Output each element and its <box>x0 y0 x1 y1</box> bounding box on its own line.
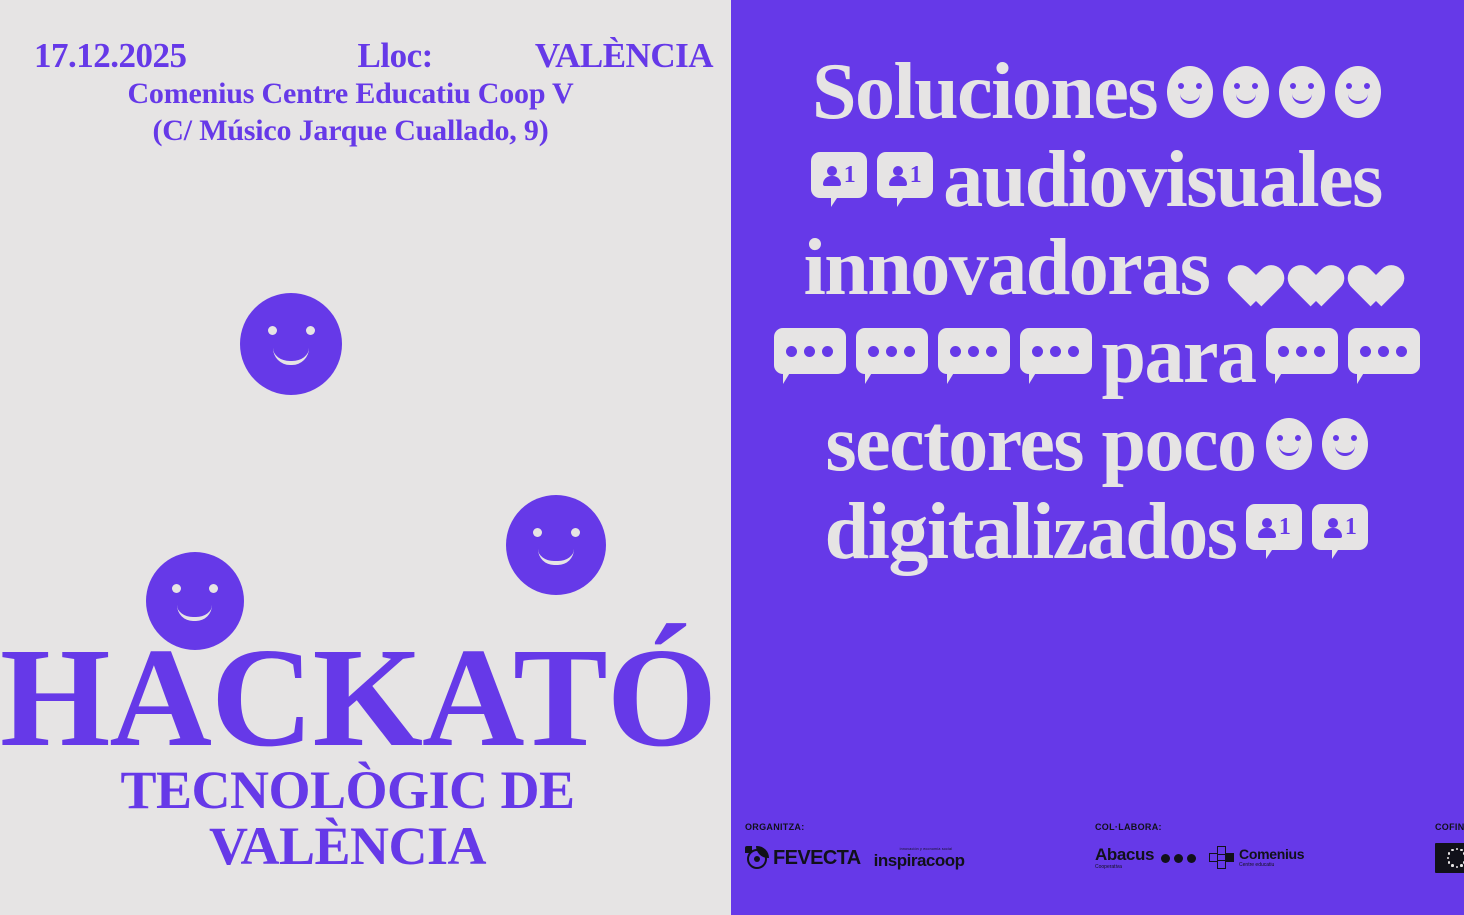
headline-text: Soluciones <box>812 52 1157 132</box>
comenius-logo: Comenius Centre educatiu <box>1209 846 1304 870</box>
eye-right <box>209 584 218 593</box>
eu-star <box>1456 848 1459 851</box>
collabora-label: COL·LABORA: <box>1095 822 1435 832</box>
follow-request-icon: 1 <box>877 152 933 208</box>
eye-right <box>571 528 580 537</box>
eu-star <box>1456 866 1459 869</box>
follow-request-icon: 1 <box>1312 504 1368 560</box>
eu-star <box>1460 849 1463 852</box>
smiley-face-icon <box>1335 66 1381 118</box>
abacus-logo: Abacus Cooperativa <box>1095 846 1196 871</box>
comenius-wordmark: Comenius <box>1239 847 1304 861</box>
abacus-sub: Cooperativa <box>1095 865 1154 871</box>
comenius-cross-icon <box>1209 846 1235 870</box>
european-union-logo: Cofinanciado por la Unión Europea <box>1435 839 1464 877</box>
headline-line: sectores poco <box>743 400 1450 488</box>
heart-icon <box>1219 245 1269 291</box>
headline-text: digitalizados <box>825 492 1237 572</box>
heart-icon <box>1279 245 1329 291</box>
cofinancen-label: COFINANCEN: <box>1435 822 1464 832</box>
smiley-face-icon <box>1322 418 1368 470</box>
poster-root: 17.12.2025 Lloc: VALÈNCIA Comenius Centr… <box>0 0 1464 915</box>
event-info-block: 17.12.2025 Lloc: VALÈNCIA Comenius Centr… <box>0 36 731 149</box>
chat-bubble-icon <box>938 328 1010 384</box>
eu-star <box>1448 861 1451 864</box>
follow-count: 1 <box>1345 515 1357 539</box>
page-subtitle: TECNOLÒGIC DE VALÈNCIA <box>0 762 695 875</box>
fevecta-wordmark: FEVECTA <box>773 848 861 868</box>
event-info-top-row: 17.12.2025 Lloc: VALÈNCIA <box>0 36 731 76</box>
event-date: 17.12.2025 <box>34 36 187 76</box>
right-panel: Soluciones 1 1 audiovisuales <box>731 0 1464 915</box>
left-panel: 17.12.2025 Lloc: VALÈNCIA Comenius Centr… <box>0 0 731 915</box>
organitza-logo-row: FEVECTA innovación y economía social ins… <box>745 843 1095 873</box>
event-city: VALÈNCIA <box>535 36 713 76</box>
eu-star <box>1448 852 1451 855</box>
smiley-face-icon <box>1167 66 1213 118</box>
eye-left <box>533 528 542 537</box>
follow-count: 1 <box>844 163 856 187</box>
abacus-wordmark: Abacus <box>1095 846 1154 863</box>
fevecta-logo: FEVECTA <box>745 846 861 870</box>
eu-star <box>1451 849 1454 852</box>
smiley-face-icon <box>1279 66 1325 118</box>
heart-icon <box>1339 245 1389 291</box>
comenius-sub: Centre educatiu <box>1239 863 1304 869</box>
smiley-face-icon <box>506 495 606 595</box>
chat-bubble-icon <box>856 328 928 384</box>
headline-text: para <box>1102 316 1256 396</box>
fevecta-eye-icon <box>745 846 769 870</box>
smile-mouth <box>538 549 574 565</box>
eu-star <box>1460 864 1463 867</box>
eu-star <box>1447 857 1450 860</box>
headline-line: digitalizados 1 1 <box>743 488 1450 576</box>
organitza-label: ORGANITZA: <box>745 822 1095 832</box>
poster-title-block: HACKATÓ TECNOLÒGIC DE VALÈNCIA <box>0 639 731 875</box>
chat-bubble-icon <box>1020 328 1092 384</box>
headline-text: sectores poco <box>826 404 1256 484</box>
inspiracoop-wordmark: inspiracoop <box>874 852 965 869</box>
footer-group-cofinancen: COFINANCEN: Cofinanciado por la Unión Eu… <box>1435 822 1464 873</box>
event-address: (C/ Músico Jarque Cuallado, 9) <box>0 113 731 150</box>
footer-group-organitza: ORGANITZA: FEVECTA innovación y economía… <box>745 822 1095 873</box>
eye-right <box>306 326 315 335</box>
chat-bubble-icon <box>1266 328 1338 384</box>
chat-bubble-icon <box>774 328 846 384</box>
page-title: HACKATÓ <box>0 639 695 755</box>
follow-count: 1 <box>1279 515 1291 539</box>
headline-line: Soluciones <box>743 48 1450 136</box>
eye-left <box>268 326 277 335</box>
follow-request-icon: 1 <box>1246 504 1302 560</box>
follow-count: 1 <box>910 163 922 187</box>
footer-group-collabora: COL·LABORA: Abacus Cooperativa <box>1095 822 1435 873</box>
place-label: Lloc: <box>238 36 433 76</box>
eu-star <box>1451 864 1454 867</box>
eu-flag-icon <box>1435 843 1464 873</box>
headline-block: Soluciones 1 1 audiovisuales <box>731 48 1464 576</box>
headline-text: innovadoras <box>804 228 1210 308</box>
chat-bubble-icon <box>1348 328 1420 384</box>
smiley-face-icon <box>1223 66 1269 118</box>
abacus-dots-icon <box>1161 854 1196 863</box>
smile-mouth <box>273 348 309 365</box>
headline-line: para <box>743 312 1450 400</box>
follow-request-icon: 1 <box>811 152 867 208</box>
headline-text: audiovisuales <box>943 140 1381 220</box>
smiley-face-icon <box>240 293 342 395</box>
headline-line: 1 1 audiovisuales <box>743 136 1450 224</box>
collabora-logo-row: Abacus Cooperativa Comenius Centre educa… <box>1095 843 1435 873</box>
eye-left <box>172 584 181 593</box>
footer-logos: ORGANITZA: FEVECTA innovación y economía… <box>731 822 1464 873</box>
smiley-face-icon <box>1266 418 1312 470</box>
event-venue: Comenius Centre Educatiu Coop V <box>0 76 731 113</box>
cofinancen-logo-row: Cofinanciado por la Unión Europea cep es… <box>1435 843 1464 873</box>
inspiracoop-logo: innovación y economía social inspiracoop <box>874 847 965 869</box>
headline-line: innovadoras <box>743 224 1450 312</box>
